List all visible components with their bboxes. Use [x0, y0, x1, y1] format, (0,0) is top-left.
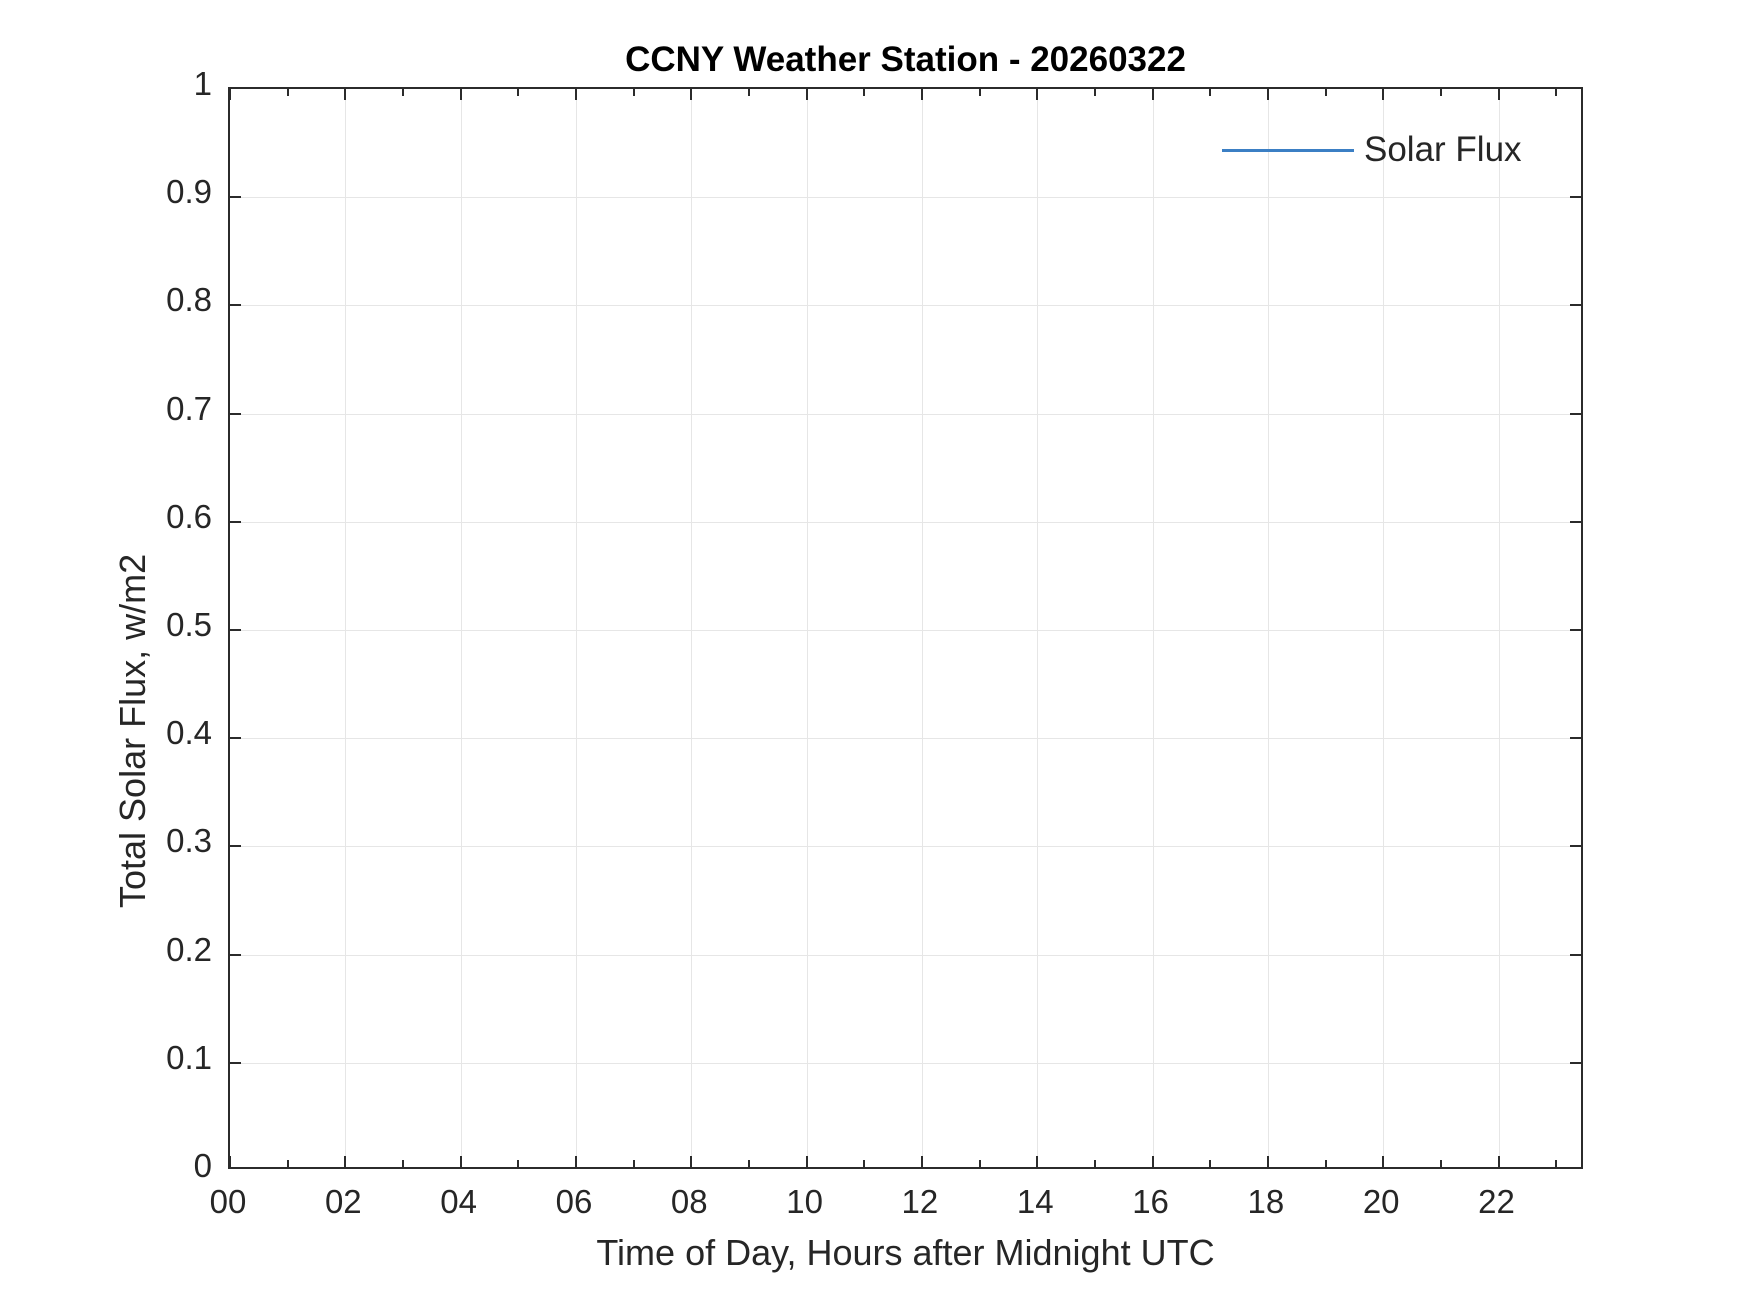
x-axis-minor-tick [1325, 1160, 1327, 1167]
x-tick-label: 10 [745, 1183, 865, 1221]
y-tick-label: 0.1 [52, 1039, 212, 1077]
x-axis-minor-tick [517, 1160, 519, 1167]
y-axis-tick-right [1570, 304, 1581, 306]
grid-line-vertical [1037, 89, 1038, 1167]
x-axis-minor-tick-top [287, 89, 289, 96]
grid-line-horizontal [230, 955, 1581, 956]
y-axis-tick-right [1570, 629, 1581, 631]
grid-line-vertical [461, 89, 462, 1167]
x-axis-minor-tick [1555, 1160, 1557, 1167]
grid-line-vertical [576, 89, 577, 1167]
x-axis-minor-tick-top [748, 89, 750, 96]
x-axis-minor-tick-top [517, 89, 519, 96]
legend-label-solar-flux: Solar Flux [1364, 130, 1522, 170]
y-axis-tick [230, 521, 241, 523]
x-axis-tick [344, 1156, 346, 1167]
x-axis-tick [1382, 1156, 1384, 1167]
x-axis-tick-top [344, 89, 346, 100]
grid-line-horizontal [230, 305, 1581, 306]
x-axis-minor-tick [979, 1160, 981, 1167]
x-axis-tick [575, 1156, 577, 1167]
x-axis-tick-top [460, 89, 462, 100]
grid-line-horizontal [230, 522, 1581, 523]
x-axis-minor-tick-top [633, 89, 635, 96]
x-axis-minor-tick [863, 1160, 865, 1167]
grid-line-vertical [1268, 89, 1269, 1167]
x-axis-tick-top [229, 89, 231, 100]
grid-line-horizontal [230, 197, 1581, 198]
x-axis-minor-tick-top [1094, 89, 1096, 96]
grid-layer [230, 89, 1581, 1167]
y-tick-label: 0.2 [52, 931, 212, 969]
grid-line-horizontal [230, 738, 1581, 739]
x-axis-minor-tick [1209, 1160, 1211, 1167]
y-axis-tick-right [1570, 954, 1581, 956]
x-axis-tick [1152, 1156, 1154, 1167]
x-tick-label: 06 [514, 1183, 634, 1221]
y-axis-label: Total Solar Flux, w/m2 [112, 554, 154, 908]
grid-line-horizontal [230, 1063, 1581, 1064]
grid-line-vertical [345, 89, 346, 1167]
y-axis-tick [230, 413, 241, 415]
x-axis-tick [921, 1156, 923, 1167]
y-axis-tick-right [1570, 845, 1581, 847]
x-tick-label: 12 [860, 1183, 980, 1221]
x-axis-tick [1267, 1156, 1269, 1167]
x-axis-tick-top [1498, 89, 1500, 100]
y-tick-label: 1 [52, 65, 212, 103]
y-axis-tick-right [1570, 196, 1581, 198]
x-axis-tick-top [1036, 89, 1038, 100]
x-axis-minor-tick-top [1555, 89, 1557, 96]
x-tick-label: 22 [1437, 1183, 1557, 1221]
x-axis-minor-tick-top [979, 89, 981, 96]
legend-line-swatch-solar-flux [1222, 149, 1354, 152]
y-axis-tick [230, 954, 241, 956]
y-axis-tick [230, 1062, 241, 1064]
y-tick-label: 0.8 [52, 281, 212, 319]
x-axis-minor-tick [1094, 1160, 1096, 1167]
x-axis-minor-tick-top [1325, 89, 1327, 96]
x-axis-minor-tick-top [1209, 89, 1211, 96]
x-axis-tick [690, 1156, 692, 1167]
y-axis-tick-right [1570, 413, 1581, 415]
x-axis-tick-top [921, 89, 923, 100]
x-axis-minor-tick [748, 1160, 750, 1167]
chart-title: CCNY Weather Station - 20260322 [228, 40, 1583, 80]
x-axis-tick-top [575, 89, 577, 100]
legend[interactable]: Solar Flux [1222, 124, 1522, 176]
grid-line-horizontal [230, 846, 1581, 847]
x-axis-minor-tick [633, 1160, 635, 1167]
plot-area[interactable] [228, 87, 1583, 1169]
y-axis-tick [230, 737, 241, 739]
grid-line-vertical [1499, 89, 1500, 1167]
grid-line-horizontal [230, 630, 1581, 631]
y-axis-tick [230, 304, 241, 306]
x-axis-tick-top [690, 89, 692, 100]
figure-canvas: CCNY Weather Station - 20260322 00020406… [0, 0, 1750, 1313]
x-axis-tick [229, 1156, 231, 1167]
x-axis-label: Time of Day, Hours after Midnight UTC [228, 1232, 1583, 1274]
grid-line-vertical [1383, 89, 1384, 1167]
y-axis-tick-right [1570, 521, 1581, 523]
grid-line-vertical [922, 89, 923, 1167]
x-tick-label: 14 [975, 1183, 1095, 1221]
x-axis-tick [1498, 1156, 1500, 1167]
x-axis-minor-tick-top [863, 89, 865, 96]
y-axis-tick-right [1570, 1062, 1581, 1064]
x-tick-label: 18 [1206, 1183, 1326, 1221]
x-axis-tick [1036, 1156, 1038, 1167]
x-axis-minor-tick [402, 1160, 404, 1167]
x-tick-label: 16 [1091, 1183, 1211, 1221]
grid-line-vertical [691, 89, 692, 1167]
y-axis-tick-right [1570, 737, 1581, 739]
x-axis-tick-top [1152, 89, 1154, 100]
x-tick-label: 02 [283, 1183, 403, 1221]
grid-line-vertical [1153, 89, 1154, 1167]
y-tick-label: 0.9 [52, 173, 212, 211]
y-tick-label: 0.6 [52, 498, 212, 536]
x-axis-tick [460, 1156, 462, 1167]
y-axis-tick [230, 629, 241, 631]
y-tick-label: 0 [52, 1147, 212, 1185]
x-tick-label: 04 [399, 1183, 519, 1221]
x-axis-minor-tick [1440, 1160, 1442, 1167]
grid-line-vertical [807, 89, 808, 1167]
x-axis-tick [806, 1156, 808, 1167]
x-axis-tick-top [1267, 89, 1269, 100]
y-axis-tick [230, 845, 241, 847]
x-axis-minor-tick-top [402, 89, 404, 96]
x-axis-tick-top [806, 89, 808, 100]
x-tick-label: 00 [168, 1183, 288, 1221]
x-axis-minor-tick-top [1440, 89, 1442, 96]
y-tick-label: 0.7 [52, 390, 212, 428]
x-axis-tick-top [1382, 89, 1384, 100]
grid-line-horizontal [230, 414, 1581, 415]
y-axis-tick [230, 196, 241, 198]
x-axis-minor-tick [287, 1160, 289, 1167]
x-tick-label: 08 [629, 1183, 749, 1221]
x-tick-label: 20 [1321, 1183, 1441, 1221]
